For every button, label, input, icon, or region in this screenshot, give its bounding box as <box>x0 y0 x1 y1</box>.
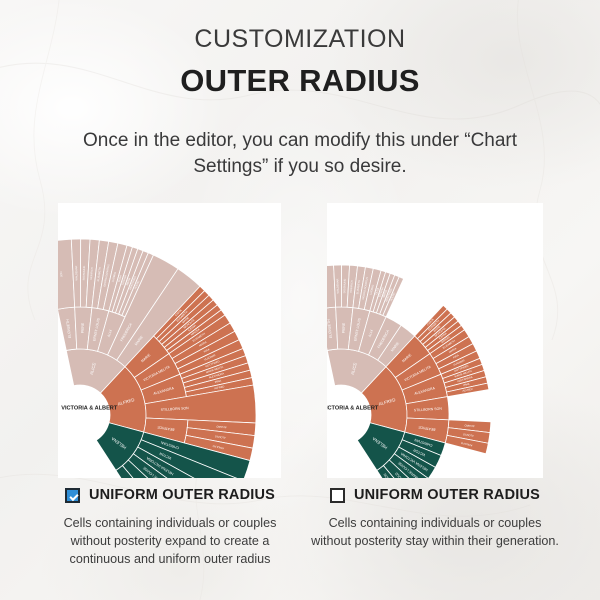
gen2-label: IRENE <box>80 322 84 333</box>
option-uniform-off[interactable]: UNIFORM OUTER RADIUS Cells containing in… <box>305 484 565 551</box>
checkbox-uniform-on[interactable] <box>65 488 80 503</box>
gen3-label: ALVARO <box>464 424 474 429</box>
page-title: OUTER RADIUS <box>0 64 600 98</box>
gen3-label: SIGISMUND <box>82 266 86 281</box>
gen3-label: SON <box>59 271 64 277</box>
option-row: UNIFORM OUTER RADIUS Cells containing in… <box>0 484 600 600</box>
chart-card-uniform-on[interactable]: ALICEELIZABETHSONIRENEWALDEMARSIGISMUNDH… <box>58 203 281 478</box>
poster-page: CUSTOMIZATION OUTER RADIUS Once in the e… <box>0 0 600 600</box>
chart-cards: ALICEELIZABETHSONIRENEWALDEMARSIGISMUNDH… <box>0 203 600 479</box>
option-header: UNIFORM OUTER RADIUS <box>305 484 565 506</box>
chart-card-uniform-off[interactable]: ALICEELIZABETHSONIRENEWALDEMARSIGISMUNDH… <box>327 203 543 478</box>
option-header: UNIFORM OUTER RADIUS <box>40 484 300 506</box>
header: CUSTOMIZATION OUTER RADIUS <box>0 26 600 98</box>
kicker-text: CUSTOMIZATION <box>0 26 600 54</box>
option-label-uniform-on: UNIFORM OUTER RADIUS <box>89 487 275 503</box>
option-description-uniform-off: Cells containing individuals or couples … <box>305 515 565 551</box>
fan-chart-uniform-on: ALICEELIZABETHSONIRENEWALDEMARSIGISMUNDH… <box>58 203 281 478</box>
root-label: VICTORIA & ALBERT <box>61 406 118 412</box>
root-label: VICTORIA & ALBERT <box>327 406 379 412</box>
option-description-uniform-on: Cells containing individuals or couples … <box>40 515 300 569</box>
gen3-label: WALDEMAR <box>335 278 339 293</box>
option-uniform-on[interactable]: UNIFORM OUTER RADIUS Cells containing in… <box>40 484 300 569</box>
gen3-label: SIGISMUND <box>342 279 346 294</box>
checkbox-uniform-off[interactable] <box>330 488 345 503</box>
fan-chart-uniform-off: ALICEELIZABETHSONIRENEWALDEMARSIGISMUNDH… <box>327 203 543 478</box>
gen3-label: WALDEMAR <box>74 265 78 280</box>
gen3-label: ALVARO <box>216 425 226 430</box>
option-label-uniform-off: UNIFORM OUTER RADIUS <box>354 487 540 503</box>
subtitle-text: Once in the editor, you can modify this … <box>65 128 535 180</box>
gen2-label: IRENE <box>341 322 345 333</box>
